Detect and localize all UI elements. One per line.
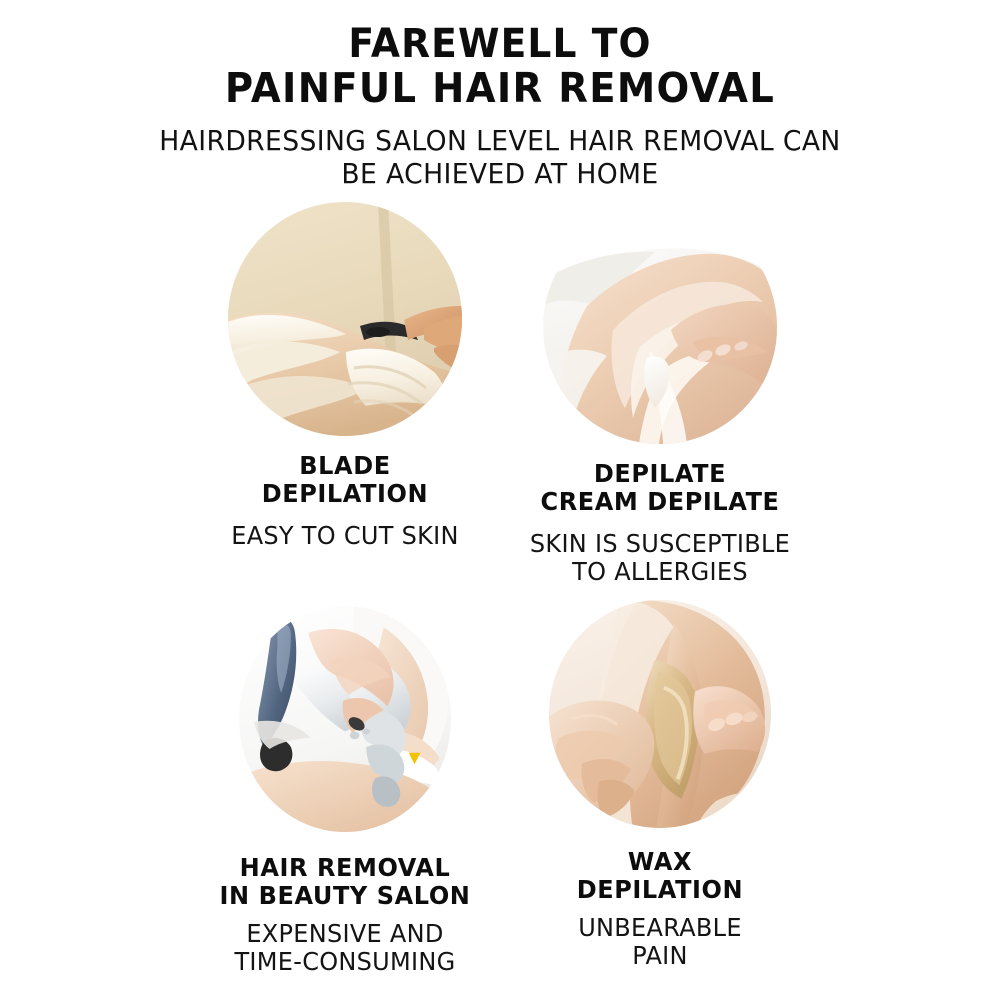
cream-depilation-illustration — [543, 210, 777, 444]
wax-depilation-note-line-2: PAIN — [511, 942, 809, 970]
cream-depilation-note: SKIN IS SUSCEPTIBLE TO ALLERGIES — [511, 530, 809, 586]
page-title-line-1: FAREWELL TO — [30, 22, 970, 66]
blade-depilation-illustration — [228, 202, 462, 436]
headline-block: FAREWELL TO PAINFUL HAIR REMOVAL HAIRDRE… — [0, 22, 1000, 190]
cream-depilation-photo — [543, 210, 777, 444]
wax-depilation-title: WAX DEPILATION — [511, 848, 809, 904]
infographic-page: FAREWELL TO PAINFUL HAIR REMOVAL HAIRDRE… — [0, 0, 1000, 1000]
salon-laser-note-line-1: EXPENSIVE AND — [196, 920, 494, 948]
page-subtitle-line-1: HAIRDRESSING SALON LEVEL HAIR REMOVAL CA… — [25, 124, 975, 157]
salon-laser-photo — [239, 606, 451, 832]
salon-laser-note: EXPENSIVE AND TIME-CONSUMING — [196, 920, 494, 976]
method-card-cream-depilation: DEPILATE CREAM DEPILATE SKIN IS SUSCEPTI… — [505, 210, 815, 586]
wax-depilation-title-line-2: DEPILATION — [511, 876, 809, 904]
wax-depilation-photo — [549, 600, 771, 828]
salon-laser-title: HAIR REMOVAL IN BEAUTY SALON — [196, 854, 494, 910]
page-subtitle: HAIRDRESSING SALON LEVEL HAIR REMOVAL CA… — [25, 124, 975, 190]
blade-depilation-note: EASY TO CUT SKIN — [196, 522, 494, 550]
salon-laser-caption: HAIR REMOVAL IN BEAUTY SALON EXPENSIVE A… — [190, 854, 500, 976]
cream-depilation-note-line-1: SKIN IS SUSCEPTIBLE — [511, 530, 809, 558]
salon-laser-note-line-2: TIME-CONSUMING — [196, 948, 494, 976]
wax-depilation-note-line-1: UNBEARABLE — [511, 914, 809, 942]
blade-depilation-caption: BLADE DEPILATION EASY TO CUT SKIN — [190, 452, 500, 550]
wax-depilation-title-line-1: WAX — [511, 848, 809, 876]
method-card-blade-depilation: BLADE DEPILATION EASY TO CUT SKIN — [190, 202, 500, 550]
wax-depilation-note: UNBEARABLE PAIN — [511, 914, 809, 970]
blade-depilation-title-line-1: BLADE — [196, 452, 494, 480]
cream-depilation-title: DEPILATE CREAM DEPILATE — [511, 460, 809, 516]
wax-depilation-illustration — [549, 600, 771, 828]
method-card-salon-laser: HAIR REMOVAL IN BEAUTY SALON EXPENSIVE A… — [190, 606, 500, 976]
salon-laser-title-line-2: IN BEAUTY SALON — [196, 882, 494, 910]
cream-depilation-title-line-2: CREAM DEPILATE — [511, 488, 809, 516]
salon-laser-title-line-1: HAIR REMOVAL — [196, 854, 494, 882]
method-card-grid: BLADE DEPILATION EASY TO CUT SKIN — [0, 196, 1000, 996]
blade-depilation-photo — [228, 202, 462, 436]
cream-depilation-note-line-2: TO ALLERGIES — [511, 558, 809, 586]
blade-depilation-title-line-2: DEPILATION — [196, 480, 494, 508]
method-card-wax-depilation: WAX DEPILATION UNBEARABLE PAIN — [505, 600, 815, 970]
cream-depilation-caption: DEPILATE CREAM DEPILATE SKIN IS SUSCEPTI… — [505, 460, 815, 586]
blade-depilation-title: BLADE DEPILATION — [196, 452, 494, 508]
page-title-line-2: PAINFUL HAIR REMOVAL — [30, 66, 970, 110]
salon-laser-illustration — [239, 606, 451, 832]
page-subtitle-line-2: BE ACHIEVED AT HOME — [25, 157, 975, 190]
blade-depilation-note-line-1: EASY TO CUT SKIN — [196, 522, 494, 550]
wax-depilation-caption: WAX DEPILATION UNBEARABLE PAIN — [505, 848, 815, 970]
cream-depilation-title-line-1: DEPILATE — [511, 460, 809, 488]
